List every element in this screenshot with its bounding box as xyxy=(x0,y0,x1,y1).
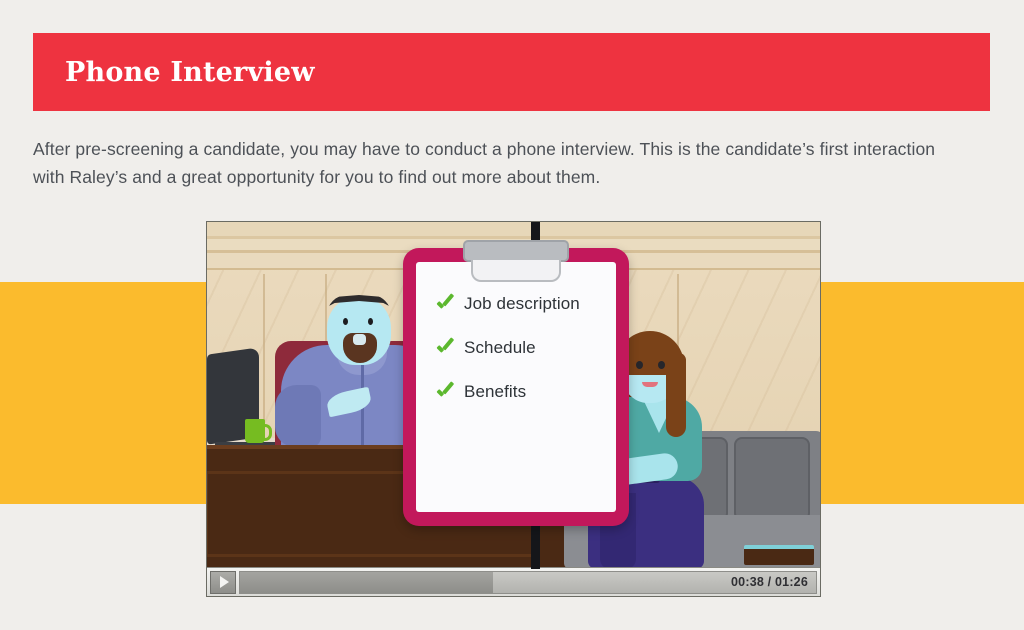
man-shirt-logo xyxy=(325,387,373,418)
intro-paragraph: After pre-screening a candidate, you may… xyxy=(33,135,963,191)
checklist-item-label: Benefits xyxy=(464,382,526,402)
man-mouth xyxy=(353,334,366,345)
clipboard-clip-tab xyxy=(471,260,561,282)
checklist-item-label: Schedule xyxy=(464,338,536,358)
man-eye-left xyxy=(343,318,348,325)
check-icon xyxy=(435,382,455,402)
checklist-item-label: Job description xyxy=(464,294,580,314)
man-left-arm xyxy=(275,385,321,447)
video-progress-bar[interactable]: 00:38 / 01:26 xyxy=(239,571,817,594)
mug-icon xyxy=(245,419,265,443)
check-icon xyxy=(435,294,455,314)
couch-cushion xyxy=(734,437,810,521)
woman-eye-right xyxy=(658,361,665,369)
video-player[interactable]: Job description Schedule Benefits 00:38 … xyxy=(206,221,821,597)
checklist: Job description Schedule Benefits xyxy=(435,292,605,424)
play-icon xyxy=(220,576,229,588)
clipboard-graphic: Job description Schedule Benefits xyxy=(403,248,629,526)
page-title: Phone Interview xyxy=(33,59,315,86)
video-time-display: 00:38 / 01:26 xyxy=(731,575,808,589)
video-control-bar: 00:38 / 01:26 xyxy=(207,567,820,596)
checklist-item: Benefits xyxy=(435,380,605,404)
woman-eye-left xyxy=(636,361,643,369)
coffee-table xyxy=(744,545,814,565)
page-header-banner: Phone Interview xyxy=(33,33,990,111)
man-eye-right xyxy=(368,318,373,325)
checklist-item: Schedule xyxy=(435,336,605,360)
play-button[interactable] xyxy=(210,571,236,594)
checklist-item: Job description xyxy=(435,292,605,316)
clipboard-clip-icon xyxy=(463,240,569,262)
video-stage: Job description Schedule Benefits xyxy=(207,222,820,569)
check-icon xyxy=(435,338,455,358)
woman-mouth xyxy=(642,382,658,387)
video-progress-fill xyxy=(240,572,493,593)
